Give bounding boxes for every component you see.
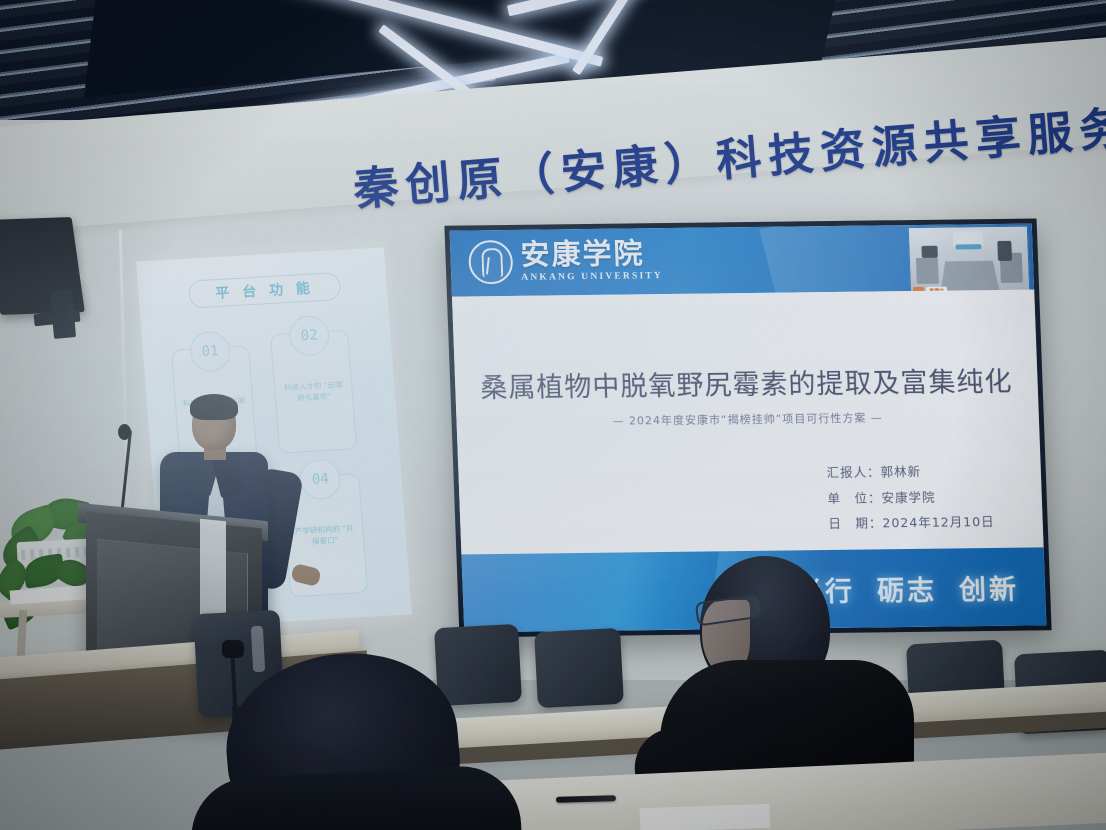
projection-card: 02 科技人才的 "云端孵化基地" (270, 330, 357, 454)
meta-label: 汇报人： (826, 459, 881, 485)
meta-row-date: 日 期：2024年12月10日 (828, 509, 995, 537)
university-motto: 尚行 砺志 创新 (794, 568, 1019, 610)
motto-word-2: 砺志 (876, 569, 937, 609)
pip-object (953, 231, 984, 247)
projection-card-number: 04 (299, 458, 342, 500)
logo-chinese-name: 安康学院 (520, 239, 663, 270)
pip-person (997, 241, 1012, 261)
logo-english-name: ANKANG UNIVERSITY (521, 271, 663, 283)
motto-word-3: 创新 (958, 568, 1019, 608)
microphone-icon (222, 640, 244, 658)
pip-video-frame (909, 227, 1030, 297)
slide-header-band: 安康学院 ANKANG UNIVERSITY (450, 224, 1035, 297)
presenter-hair (190, 394, 238, 420)
pip-object (1000, 253, 1023, 283)
meta-value: 2024年12月10日 (882, 514, 995, 530)
microphone-icon (118, 424, 131, 440)
projection-card-text: 科技人才的 "云端孵化基地" (281, 379, 347, 405)
meeting-room-photo: 秦创原（安康）科技资源共享服务平 平 台 功 能 01 科技成果的 转化服务 0… (0, 0, 1106, 830)
meta-value: 安康学院 (881, 489, 936, 505)
meta-row-presenter: 汇报人：郭林新 (826, 458, 993, 486)
university-logo: 安康学院 ANKANG UNIVERSITY (468, 238, 663, 284)
meta-label: 单 位： (827, 485, 882, 511)
projection-card-text: 产学研机构的 "对接窗口" (292, 522, 358, 548)
picture-in-picture-video[interactable]: 直播中 (908, 226, 1031, 297)
pip-person (921, 246, 937, 258)
slide-meta-block: 汇报人：郭林新 单 位：安康学院 日 期：2024年12月10日 (826, 458, 995, 537)
meta-value: 郭林新 (880, 464, 921, 479)
ankang-emblem-icon (468, 240, 514, 285)
conference-chair (534, 628, 624, 708)
chair-highlight (251, 626, 265, 673)
pip-object (916, 258, 939, 284)
meta-label: 日 期： (828, 511, 883, 537)
pip-object (955, 244, 981, 249)
slide-subtitle: — 2024年度安康市“揭榜挂帅”项目可行性方案 — (456, 407, 1039, 430)
slide-body: 桑属植物中脱氧野尻霉素的提取及富集纯化 — 2024年度安康市“揭榜挂帅”项目可… (452, 290, 1044, 555)
paper-on-table (640, 804, 771, 830)
slide-title: 桑属植物中脱氧野尻霉素的提取及富集纯化 (455, 359, 1039, 405)
meta-row-organization: 单 位：安康学院 (827, 484, 994, 512)
conference-chair (434, 624, 522, 706)
